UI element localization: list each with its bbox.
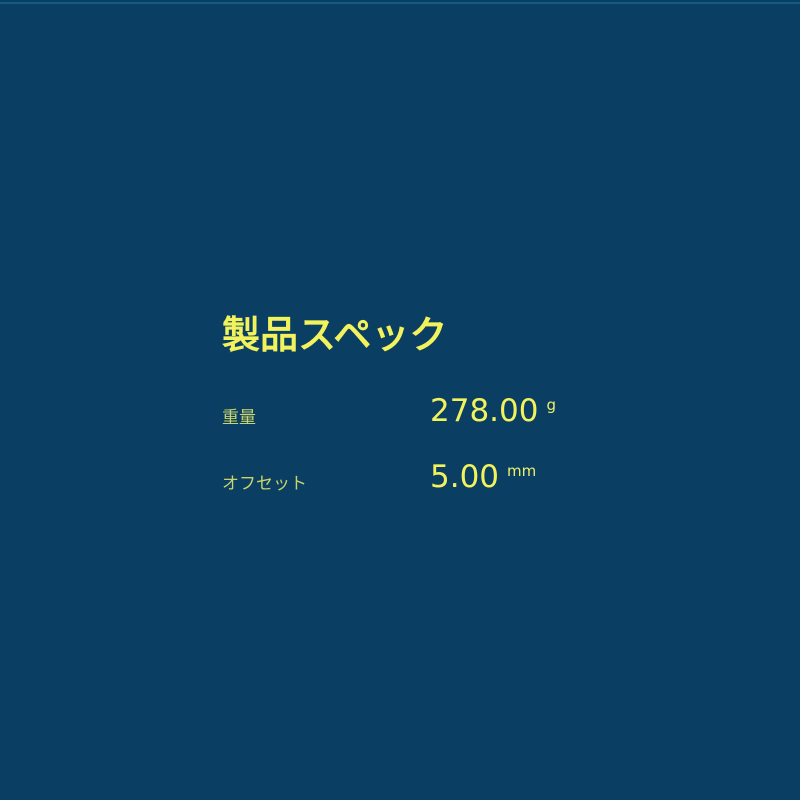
top-accent-line <box>0 2 800 4</box>
spec-label-offset: オフセット <box>222 476 307 493</box>
spec-value-group-offset: 5.00mm <box>430 462 536 493</box>
spec-row-weight: 重量 278.00g <box>222 396 642 462</box>
spec-value-weight: 278.00 <box>430 393 538 429</box>
spec-value-offset: 5.00 <box>430 459 499 495</box>
spec-unit-weight: g <box>546 396 556 414</box>
spec-content: 製品スペック 重量 278.00g オフセット 5.00mm <box>222 312 642 528</box>
page-title: 製品スペック <box>222 312 642 360</box>
spec-label-weight: 重量 <box>222 410 256 427</box>
spec-unit-offset: mm <box>507 462 536 480</box>
spec-value-group-weight: 278.00g <box>430 396 556 427</box>
spec-row-offset: オフセット 5.00mm <box>222 462 642 528</box>
product-spec-card: 製品スペック 重量 278.00g オフセット 5.00mm <box>0 0 800 800</box>
